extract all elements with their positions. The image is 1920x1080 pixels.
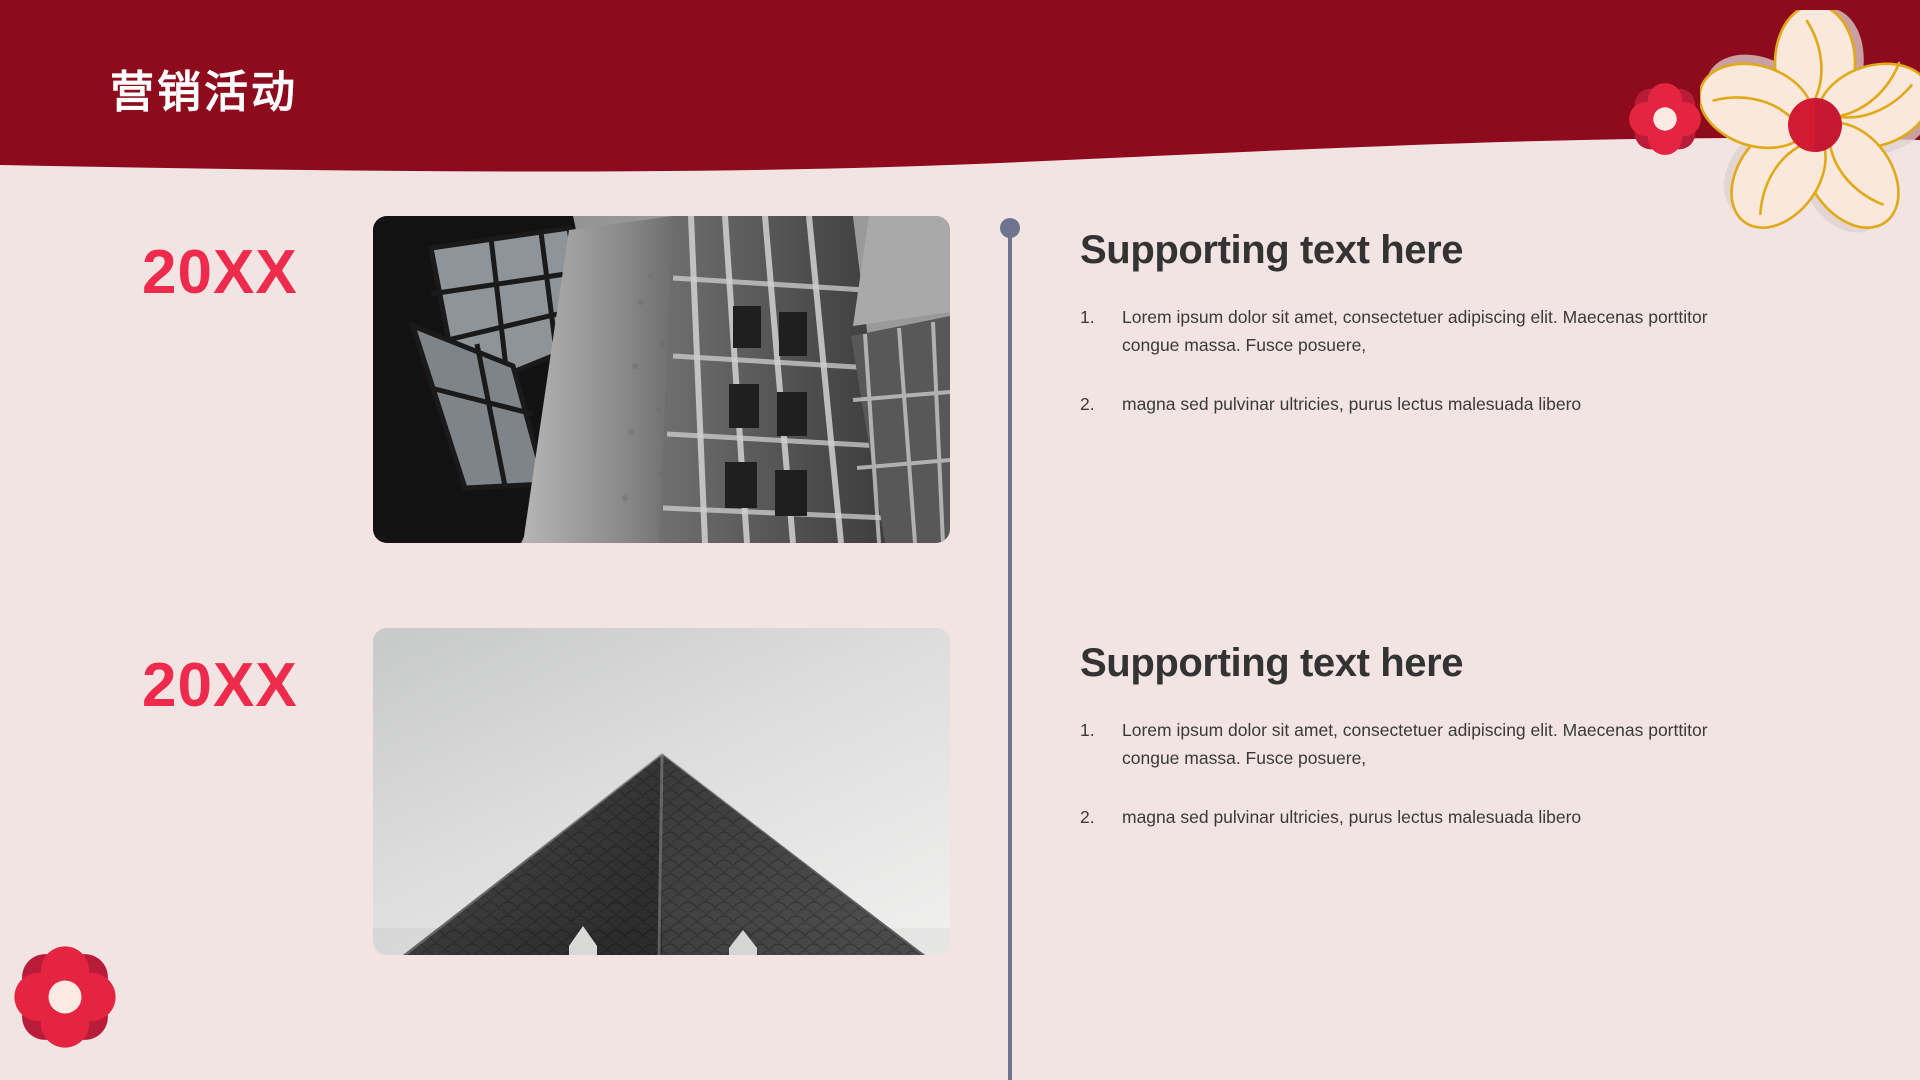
page-title: 营销活动 bbox=[110, 56, 298, 120]
bullet-text: Lorem ipsum dolor sit amet, consectetuer… bbox=[1122, 303, 1740, 360]
bullet-text: Lorem ipsum dolor sit amet, consectetuer… bbox=[1122, 716, 1740, 773]
year-label-row1: 20XX bbox=[142, 237, 298, 308]
text-block-row2: Supporting text here 1. Lorem ipsum dolo… bbox=[1080, 641, 1740, 831]
slide-root: 营销活动 bbox=[0, 0, 1920, 1080]
photo-card-row2[interactable] bbox=[373, 628, 950, 955]
bullet-number: 2. bbox=[1080, 390, 1122, 418]
bullet-list-row2: 1. Lorem ipsum dolor sit amet, consectet… bbox=[1080, 716, 1740, 831]
block-heading-row1: Supporting text here bbox=[1080, 228, 1740, 273]
bullet-text: magna sed pulvinar ultricies, purus lect… bbox=[1122, 390, 1740, 418]
timeline-axis bbox=[1008, 222, 1012, 1080]
bullet-number: 2. bbox=[1080, 803, 1122, 831]
list-item: 2. magna sed pulvinar ultricies, purus l… bbox=[1080, 803, 1740, 831]
text-block-row1: Supporting text here 1. Lorem ipsum dolo… bbox=[1080, 228, 1740, 418]
list-item: 1. Lorem ipsum dolor sit amet, consectet… bbox=[1080, 303, 1740, 360]
flower-bottom-left-icon bbox=[10, 942, 120, 1052]
list-item: 1. Lorem ipsum dolor sit amet, consectet… bbox=[1080, 716, 1740, 773]
flower-large-icon bbox=[1700, 10, 1920, 240]
bullet-number: 1. bbox=[1080, 716, 1122, 744]
block-heading-row2: Supporting text here bbox=[1080, 641, 1740, 686]
timeline-node bbox=[1000, 218, 1020, 238]
year-label-row2: 20XX bbox=[142, 650, 298, 721]
bullet-text: magna sed pulvinar ultricies, purus lect… bbox=[1122, 803, 1740, 831]
list-item: 2. magna sed pulvinar ultricies, purus l… bbox=[1080, 390, 1740, 418]
bullet-number: 1. bbox=[1080, 303, 1122, 331]
flower-small-icon bbox=[1626, 80, 1704, 158]
photo-card-row1[interactable] bbox=[373, 216, 950, 543]
bullet-list-row1: 1. Lorem ipsum dolor sit amet, consectet… bbox=[1080, 303, 1740, 418]
